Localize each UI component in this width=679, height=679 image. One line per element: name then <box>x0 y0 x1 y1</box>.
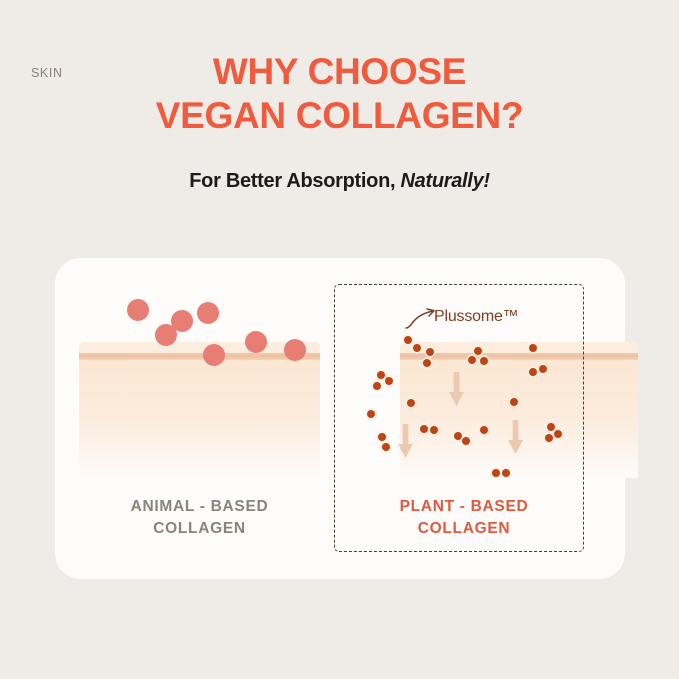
plant-collagen-particle <box>430 426 438 434</box>
animal-caption-line-1: ANIMAL - BASED <box>79 496 320 518</box>
absorption-arrow-icon <box>508 420 523 454</box>
animal-based-caption: ANIMAL - BASED COLLAGEN <box>79 496 320 540</box>
subtitle: For Better Absorption, Naturally! <box>0 170 679 193</box>
skin-cross-section-animal <box>79 342 320 478</box>
plant-collagen-particle <box>529 344 537 352</box>
animal-collagen-particle <box>171 310 193 332</box>
plant-collagen-particle <box>539 365 547 373</box>
plussome-pointer-arrow <box>404 306 438 332</box>
plant-collagen-particle <box>420 425 428 433</box>
plant-collagen-particle <box>373 382 381 390</box>
plant-collagen-particle <box>492 469 500 477</box>
page-title: WHY CHOOSE VEGAN COLLAGEN? <box>0 50 679 138</box>
plant-collagen-particle <box>385 377 393 385</box>
plant-collagen-particle <box>480 357 488 365</box>
plant-collagen-particle <box>367 410 375 418</box>
plant-caption-line-2: COLLAGEN <box>345 518 583 540</box>
plant-collagen-particle <box>468 356 476 364</box>
plant-collagen-particle <box>413 344 421 352</box>
animal-caption-line-2: COLLAGEN <box>79 518 320 540</box>
skin-label: SKIN <box>31 66 63 80</box>
plant-based-caption: PLANT - BASED COLLAGEN <box>345 496 583 540</box>
plant-collagen-particle <box>377 371 385 379</box>
headline-line-2: VEGAN COLLAGEN? <box>0 94 679 138</box>
plant-collagen-particle <box>378 433 386 441</box>
absorption-arrow-icon <box>398 424 413 458</box>
plant-collagen-particle <box>454 432 462 440</box>
animal-collagen-particle <box>245 331 267 353</box>
animal-collagen-particle <box>127 299 149 321</box>
plant-collagen-particle <box>382 443 390 451</box>
dermis-layer <box>79 360 320 478</box>
plant-collagen-particle <box>426 348 434 356</box>
plant-collagen-particle <box>502 469 510 477</box>
subtitle-lead: For Better Absorption, <box>189 170 400 192</box>
animal-collagen-particle <box>197 302 219 324</box>
infographic-canvas: WHY CHOOSE VEGAN COLLAGEN? For Better Ab… <box>0 0 679 679</box>
plant-collagen-particle <box>462 437 470 445</box>
plant-collagen-particle <box>480 426 488 434</box>
plant-collagen-particle <box>404 336 412 344</box>
plussome-label: Plussome™ <box>434 308 518 326</box>
plant-collagen-particle <box>423 359 431 367</box>
plant-collagen-particle <box>545 434 553 442</box>
plant-collagen-particle <box>529 368 537 376</box>
plant-collagen-particle <box>407 399 415 407</box>
absorption-arrow-icon <box>449 372 464 406</box>
plant-collagen-particle <box>510 398 518 406</box>
headline-line-1: WHY CHOOSE <box>0 50 679 94</box>
plant-caption-line-1: PLANT - BASED <box>345 496 583 518</box>
animal-collagen-particle <box>284 339 306 361</box>
plant-collagen-particle <box>547 423 555 431</box>
plant-collagen-particle <box>474 347 482 355</box>
plant-collagen-particle <box>554 430 562 438</box>
subtitle-emphasis: Naturally! <box>401 170 490 192</box>
animal-collagen-particle <box>203 344 225 366</box>
